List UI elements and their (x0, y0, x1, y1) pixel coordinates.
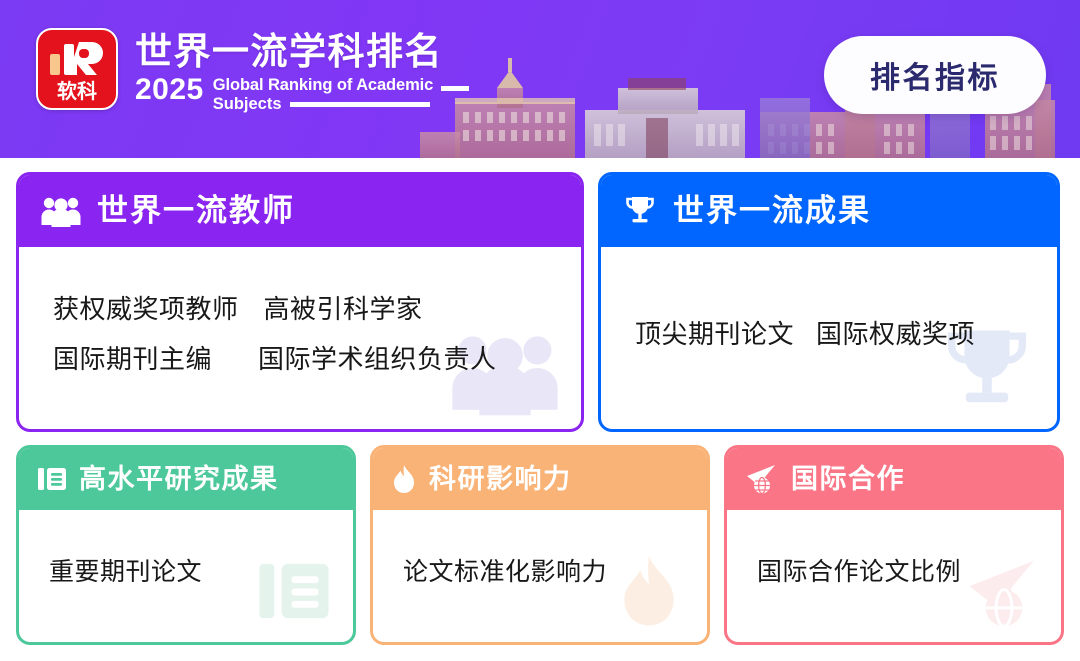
indicator-item: 国际合作论文比例 (757, 552, 961, 592)
indicator-item: 国际期刊主编 (53, 334, 258, 384)
brand-title-en-line1: Global Ranking of Academic (213, 76, 434, 94)
brand-title-cn: 世界一流学科排名 (135, 31, 469, 73)
airplane-globe-icon (745, 463, 779, 495)
journal-article-icon (37, 464, 67, 494)
indicator-item: 国际学术组织负责人 (258, 334, 497, 384)
brand-rule-long (290, 102, 430, 107)
brand-lockup: 软科 世界一流学科排名 2025 Global Ranking of Acade… (36, 28, 469, 113)
indicator-item: 国际权威奖项 (816, 309, 975, 359)
indicator-item: 重要期刊论文 (49, 552, 202, 592)
indicator-card-research-impact[interactable]: 科研影响力 论文标准化影响力 (370, 445, 710, 645)
card-item-line: 国际期刊主编 国际学术组织负责人 (53, 334, 547, 384)
indicator-row-bottom: 高水平研究成果 重要期刊论文 (16, 445, 1064, 645)
card-header: 高水平研究成果 (19, 448, 353, 510)
flame-icon (391, 464, 417, 494)
brand-year: 2025 (135, 74, 204, 106)
indicator-item: 高被引科学家 (264, 284, 423, 334)
indicator-card-world-class-output[interactable]: 世界一流成果 顶尖期刊论文 国际权威奖项 (598, 172, 1060, 432)
card-item-line: 顶尖期刊论文 国际权威奖项 (635, 309, 1023, 359)
header-banner: 软科 世界一流学科排名 2025 Global Ranking of Acade… (0, 0, 1080, 160)
trophy-icon (623, 194, 657, 228)
card-title: 世界一流成果 (673, 194, 871, 228)
logo-text: 软科 (57, 79, 97, 103)
card-body: 国际合作论文比例 (735, 510, 1053, 634)
card-header: 国际合作 (727, 448, 1061, 510)
card-header: 世界一流教师 (19, 175, 581, 247)
indicator-card-high-level-research[interactable]: 高水平研究成果 重要期刊论文 (16, 445, 356, 645)
brand-rule-short (441, 86, 469, 91)
indicator-row-top: 世界一流教师 获权威奖项教师 (16, 172, 1064, 432)
card-item-line: 国际合作论文比例 (757, 552, 1031, 592)
indicator-card-international-collaboration[interactable]: 国际合作 国际合作论文比例 (724, 445, 1064, 645)
ranking-indicators-badge-label: 排名指标 (870, 53, 1000, 97)
card-title: 世界一流教师 (97, 194, 295, 228)
ruanke-logo: 软科 (36, 28, 118, 110)
card-header: 世界一流成果 (601, 175, 1057, 247)
card-body: 重要期刊论文 (27, 510, 345, 634)
card-body: 获权威奖项教师 高被引科学家 国际期刊主编 国际学术组织负责人 (27, 247, 573, 420)
people-group-icon (41, 194, 81, 228)
card-title: 高水平研究成果 (79, 462, 279, 496)
card-title: 国际合作 (791, 462, 905, 496)
card-header: 科研影响力 (373, 448, 707, 510)
brand-title-en-line2: Subjects (213, 95, 282, 113)
indicator-item: 获权威奖项教师 (53, 284, 239, 334)
card-item-line: 重要期刊论文 (49, 552, 323, 592)
card-body: 顶尖期刊论文 国际权威奖项 (609, 247, 1049, 420)
brand-text-block: 世界一流学科排名 2025 Global Ranking of Academic… (135, 28, 469, 113)
ranking-indicators-badge[interactable]: 排名指标 (824, 36, 1046, 114)
ranking-indicators-infographic: 软科 世界一流学科排名 2025 Global Ranking of Acade… (0, 0, 1080, 661)
indicator-card-world-class-faculty[interactable]: 世界一流教师 获权威奖项教师 (16, 172, 584, 432)
card-title: 科研影响力 (429, 462, 572, 496)
indicator-item: 顶尖期刊论文 (635, 309, 794, 359)
card-item-line: 论文标准化影响力 (403, 552, 677, 592)
ruanke-logo-mark: 软科 (38, 30, 116, 108)
indicator-item: 论文标准化影响力 (403, 552, 607, 592)
card-body: 论文标准化影响力 (381, 510, 699, 634)
indicator-cards-area: 世界一流教师 获权威奖项教师 (0, 158, 1080, 661)
card-item-line: 获权威奖项教师 高被引科学家 (53, 284, 547, 334)
